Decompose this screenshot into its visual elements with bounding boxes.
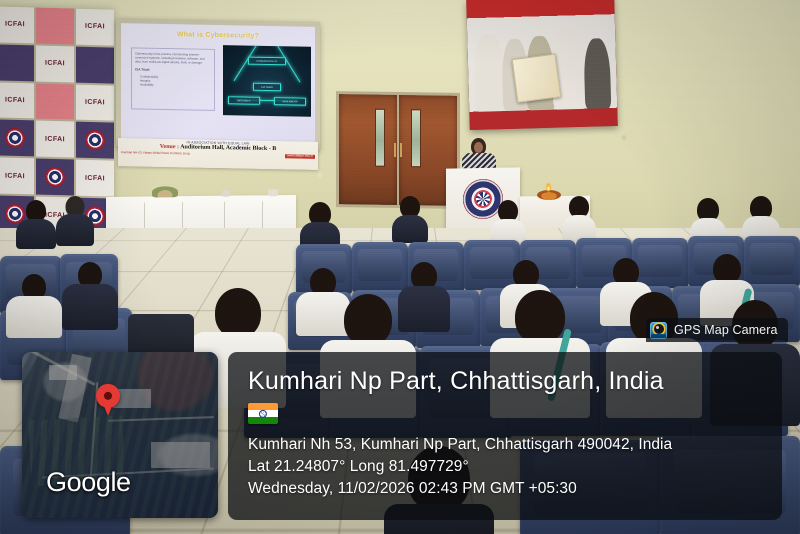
person-body	[56, 214, 94, 246]
person-body	[392, 215, 428, 243]
triad-node-top: CONFIDENTIALITY	[248, 57, 286, 66]
address-line: Kumhari Nh 53, Kumhari Np Part, Chhattis…	[248, 434, 764, 456]
banner-venue-value: Auditorium Hall, Academic Block - B	[180, 145, 276, 153]
backdrop-logo-text: ICFAI	[5, 97, 25, 105]
backdrop-logo-text: ICFAI	[45, 136, 65, 144]
backdrop-cell: ICFAI	[0, 6, 34, 43]
map-building	[151, 442, 210, 469]
icfai-seal-icon	[45, 167, 65, 188]
backdrop-cell	[0, 44, 34, 81]
person-body	[6, 296, 62, 338]
backdrop-logo-text: ICFAI	[85, 175, 105, 183]
camera-icon	[650, 322, 667, 339]
backdrop-cell: ICFAI	[76, 160, 114, 197]
person-head	[215, 288, 261, 338]
coordinates-line: Lat 21.24807° Long 81.497729°	[248, 456, 764, 478]
map-building	[49, 365, 76, 380]
door-handle	[400, 143, 402, 157]
banner-venue-label: Venue :	[160, 144, 179, 150]
slide-paragraph: Cybersecurity is the practice of protect…	[135, 51, 211, 65]
audience-person	[62, 262, 118, 326]
backdrop-logo-text: ICFAI	[45, 60, 65, 68]
gps-map-camera-photo: ICFAI ICFAI ICFAI ICFAI ICFAI ICFAI ICFA…	[0, 0, 800, 534]
backdrop-cell	[76, 122, 114, 159]
speaker-face	[474, 142, 483, 153]
audience-person	[300, 202, 340, 250]
banner-website: www.iufaipur.edu.in	[285, 155, 315, 159]
backdrop-logo-text: ICFAI	[5, 172, 25, 180]
slide-title: What is Cybersecurity?	[121, 30, 315, 41]
event-venue-banner: IN ASSOCIATION WITH EQUAL LAW Venue : Au…	[118, 138, 318, 170]
auditorium-doors	[336, 91, 460, 209]
person-body	[62, 284, 118, 330]
icfai-seal-icon	[85, 130, 105, 151]
location-pin-icon	[96, 384, 120, 416]
slide-bullets: Confidentiality Integrity Availability	[140, 75, 211, 88]
presentation-slide: What is Cybersecurity? Cybersecurity is …	[121, 23, 315, 145]
audience-person	[562, 196, 596, 238]
triad-node-middle: CIA TRIAD	[253, 83, 281, 92]
audience-person	[56, 196, 94, 244]
projector-screen: What is Cybersecurity? Cybersecurity is …	[116, 18, 320, 150]
google-watermark: Google	[46, 467, 131, 498]
backdrop-cell	[36, 7, 74, 44]
backdrop-logo-text: ICFAI	[5, 21, 25, 29]
map-road-segment	[108, 417, 214, 423]
award-certificate	[512, 53, 561, 102]
wall-award-photo-banner	[466, 0, 618, 130]
gps-detail-lines: Kumhari Nh 53, Kumhari Np Part, Chhattis…	[248, 434, 764, 500]
backdrop-cell	[36, 159, 74, 196]
backdrop-cell	[36, 83, 74, 120]
person-body	[16, 219, 56, 249]
india-flag-icon	[248, 403, 278, 424]
backdrop-cell: ICFAI	[36, 121, 74, 158]
pin-tip	[101, 399, 115, 416]
door-glass-panel	[411, 109, 421, 167]
icfai-seal-icon	[5, 128, 25, 149]
slide-subheading: CIA Triad:	[135, 67, 211, 73]
audience-person	[16, 200, 56, 246]
location-title: Kumhari Np Part, Chhattisgarh, India	[248, 368, 764, 394]
slide-body: Cybersecurity is the practice of protect…	[131, 47, 215, 111]
timestamp-line: Wednesday, 11/02/2026 02:43 PM GMT +05:3…	[248, 478, 764, 500]
gps-info-panel: Kumhari Np Part, Chhattisgarh, India Kum…	[228, 352, 782, 520]
backdrop-cell	[0, 120, 34, 157]
backdrop-cell	[76, 46, 114, 83]
triad-node-bottom-left: INTEGRITY	[228, 97, 260, 106]
audience-person	[392, 196, 428, 240]
audience-person	[6, 274, 62, 334]
door-handle	[394, 143, 396, 157]
backdrop-logo-text: ICFAI	[85, 23, 105, 31]
backdrop-logo-text: ICFAI	[85, 99, 105, 107]
pin-hole	[104, 392, 112, 400]
person-head	[515, 290, 565, 344]
map-thumbnail[interactable]: Google	[22, 352, 218, 518]
door-glass-panel	[375, 109, 385, 167]
cia-triad-diagram: CONFIDENTIALITY CIA TRIAD INTEGRITY AVAI…	[232, 59, 302, 106]
triad-node-bottom-right: AVAILABILITY	[274, 97, 306, 106]
person-head	[344, 294, 392, 346]
backdrop-cell: ICFAI	[76, 84, 114, 121]
backdrop-cell: ICFAI	[36, 45, 74, 82]
slide-diagram-area: CONFIDENTIALITY CIA TRIAD INTEGRITY AVAI…	[223, 45, 311, 117]
camera-lens-icon	[654, 324, 664, 334]
door-left	[339, 94, 397, 205]
slide-bullet: Availability	[140, 83, 211, 88]
lamp-flame-icon	[546, 183, 551, 191]
gps-app-name: GPS Map Camera	[674, 323, 778, 337]
backdrop-cell: ICFAI	[0, 158, 34, 195]
camera-body-icon	[651, 334, 666, 338]
backdrop-cell: ICFAI	[0, 82, 34, 119]
backdrop-cell: ICFAI	[76, 9, 114, 46]
audience-person	[490, 200, 526, 244]
gps-map-camera-badge: GPS Map Camera	[646, 318, 788, 342]
